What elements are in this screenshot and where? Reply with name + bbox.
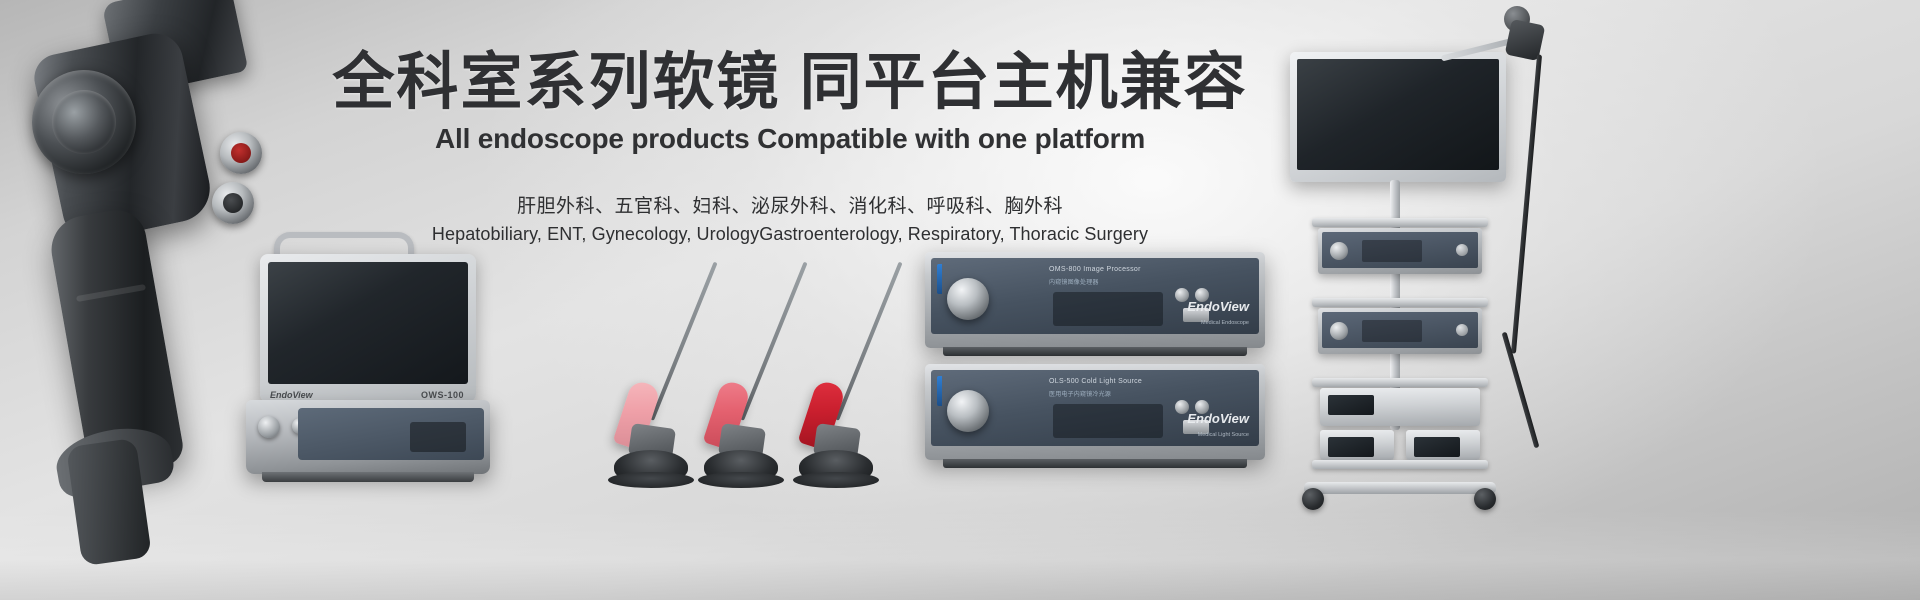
cart-device-lower-dial [1330,322,1348,340]
processor-button-cluster [1053,292,1163,326]
light-source-feet [943,459,1247,468]
light-source-front-panel: OLS-500 Cold Light Source 医用电子内窥镜冷光源 End… [931,370,1259,446]
specialties-list-chinese: 肝胆外科、五官科、妇科、泌尿外科、消化科、呼吸科、胸外科 [0,191,1580,218]
scope-stand-base [698,472,784,488]
specialties-list-english: Hepatobiliary, ENT, Gynecology, UrologyG… [0,224,1580,245]
floor-reflection [0,510,1920,600]
light-source-button-cluster [1053,404,1163,438]
workstation-model-label: OWS-100 [421,390,464,400]
cart-device-lower [1318,308,1482,354]
cart-caster-left [1302,488,1324,510]
cart-hanging-scope-lower [1502,332,1540,449]
cart-caster-right [1474,488,1496,510]
processor-model-label-cn: 内窥镜图像处理器 [1049,277,1099,286]
processor-brand-label: EndoView [1187,299,1249,314]
processor-main-dial [947,278,989,320]
light-source-main-dial [947,390,989,432]
cart-drawer-display [1328,395,1374,415]
scope-shaft [835,262,902,421]
cart-drawer-main [1320,388,1480,426]
cart-drawer-left-display [1328,437,1374,457]
flexible-scope-tip-red [785,250,935,500]
light-source-model-label: OLS-500 Cold Light Source [1049,378,1142,385]
light-source-brand-sublabel: Medical Light Source [1198,432,1249,438]
scope-stand-base [793,472,879,488]
banner-subheadline: All endoscope products Compatible with o… [0,123,1580,155]
light-source-unit: OLS-500 Cold Light Source 医用电子内窥镜冷光源 End… [925,364,1265,460]
workstation-control-panel [298,408,484,460]
processor-front-panel: OMS-800 Image Processor 内窥镜图像处理器 EndoVie… [931,258,1259,334]
light-source-accent-stripe [937,376,942,406]
workstation-feet [262,472,474,482]
cart-shelf-4 [1312,460,1488,469]
scope-stand-base [608,472,694,488]
product-banner: EndoView OWS-100 [0,0,1920,600]
workstation-keypad [410,422,466,452]
cart-shelf-3 [1312,378,1488,387]
processor-brand-sublabel: Medical Endoscope [1201,320,1249,326]
banner-text-block: 全科室系列软镜 同平台主机兼容 All endoscope products C… [0,48,1580,245]
cart-shelf-2 [1312,298,1488,307]
processor-stack: OMS-800 Image Processor 内窥镜图像处理器 EndoVie… [925,252,1275,480]
processor-model-label: OMS-800 Image Processor [1049,266,1141,273]
light-source-brand-label: EndoView [1187,411,1249,426]
cart-device-upper-power [1456,244,1468,256]
banner-headline: 全科室系列软镜 同平台主机兼容 [0,48,1580,117]
processor-accent-stripe [937,264,942,294]
workstation-monitor-bezel: EndoView OWS-100 [260,254,476,402]
cart-device-lower-buttons [1362,320,1422,342]
cart-drawer-right [1406,430,1480,460]
light-source-model-label-cn: 医用电子内窥镜冷光源 [1049,389,1111,398]
cart-device-lower-power [1456,324,1468,336]
cart-drawer-right-display [1414,437,1460,457]
workstation-display-screen [268,262,468,384]
cart-base-platform [1304,482,1496,494]
image-processor-unit: OMS-800 Image Processor 内窥镜图像处理器 EndoVie… [925,252,1265,348]
processor-feet [943,347,1247,356]
cart-device-lower-panel [1322,312,1478,348]
cart-drawer-left [1320,430,1394,460]
